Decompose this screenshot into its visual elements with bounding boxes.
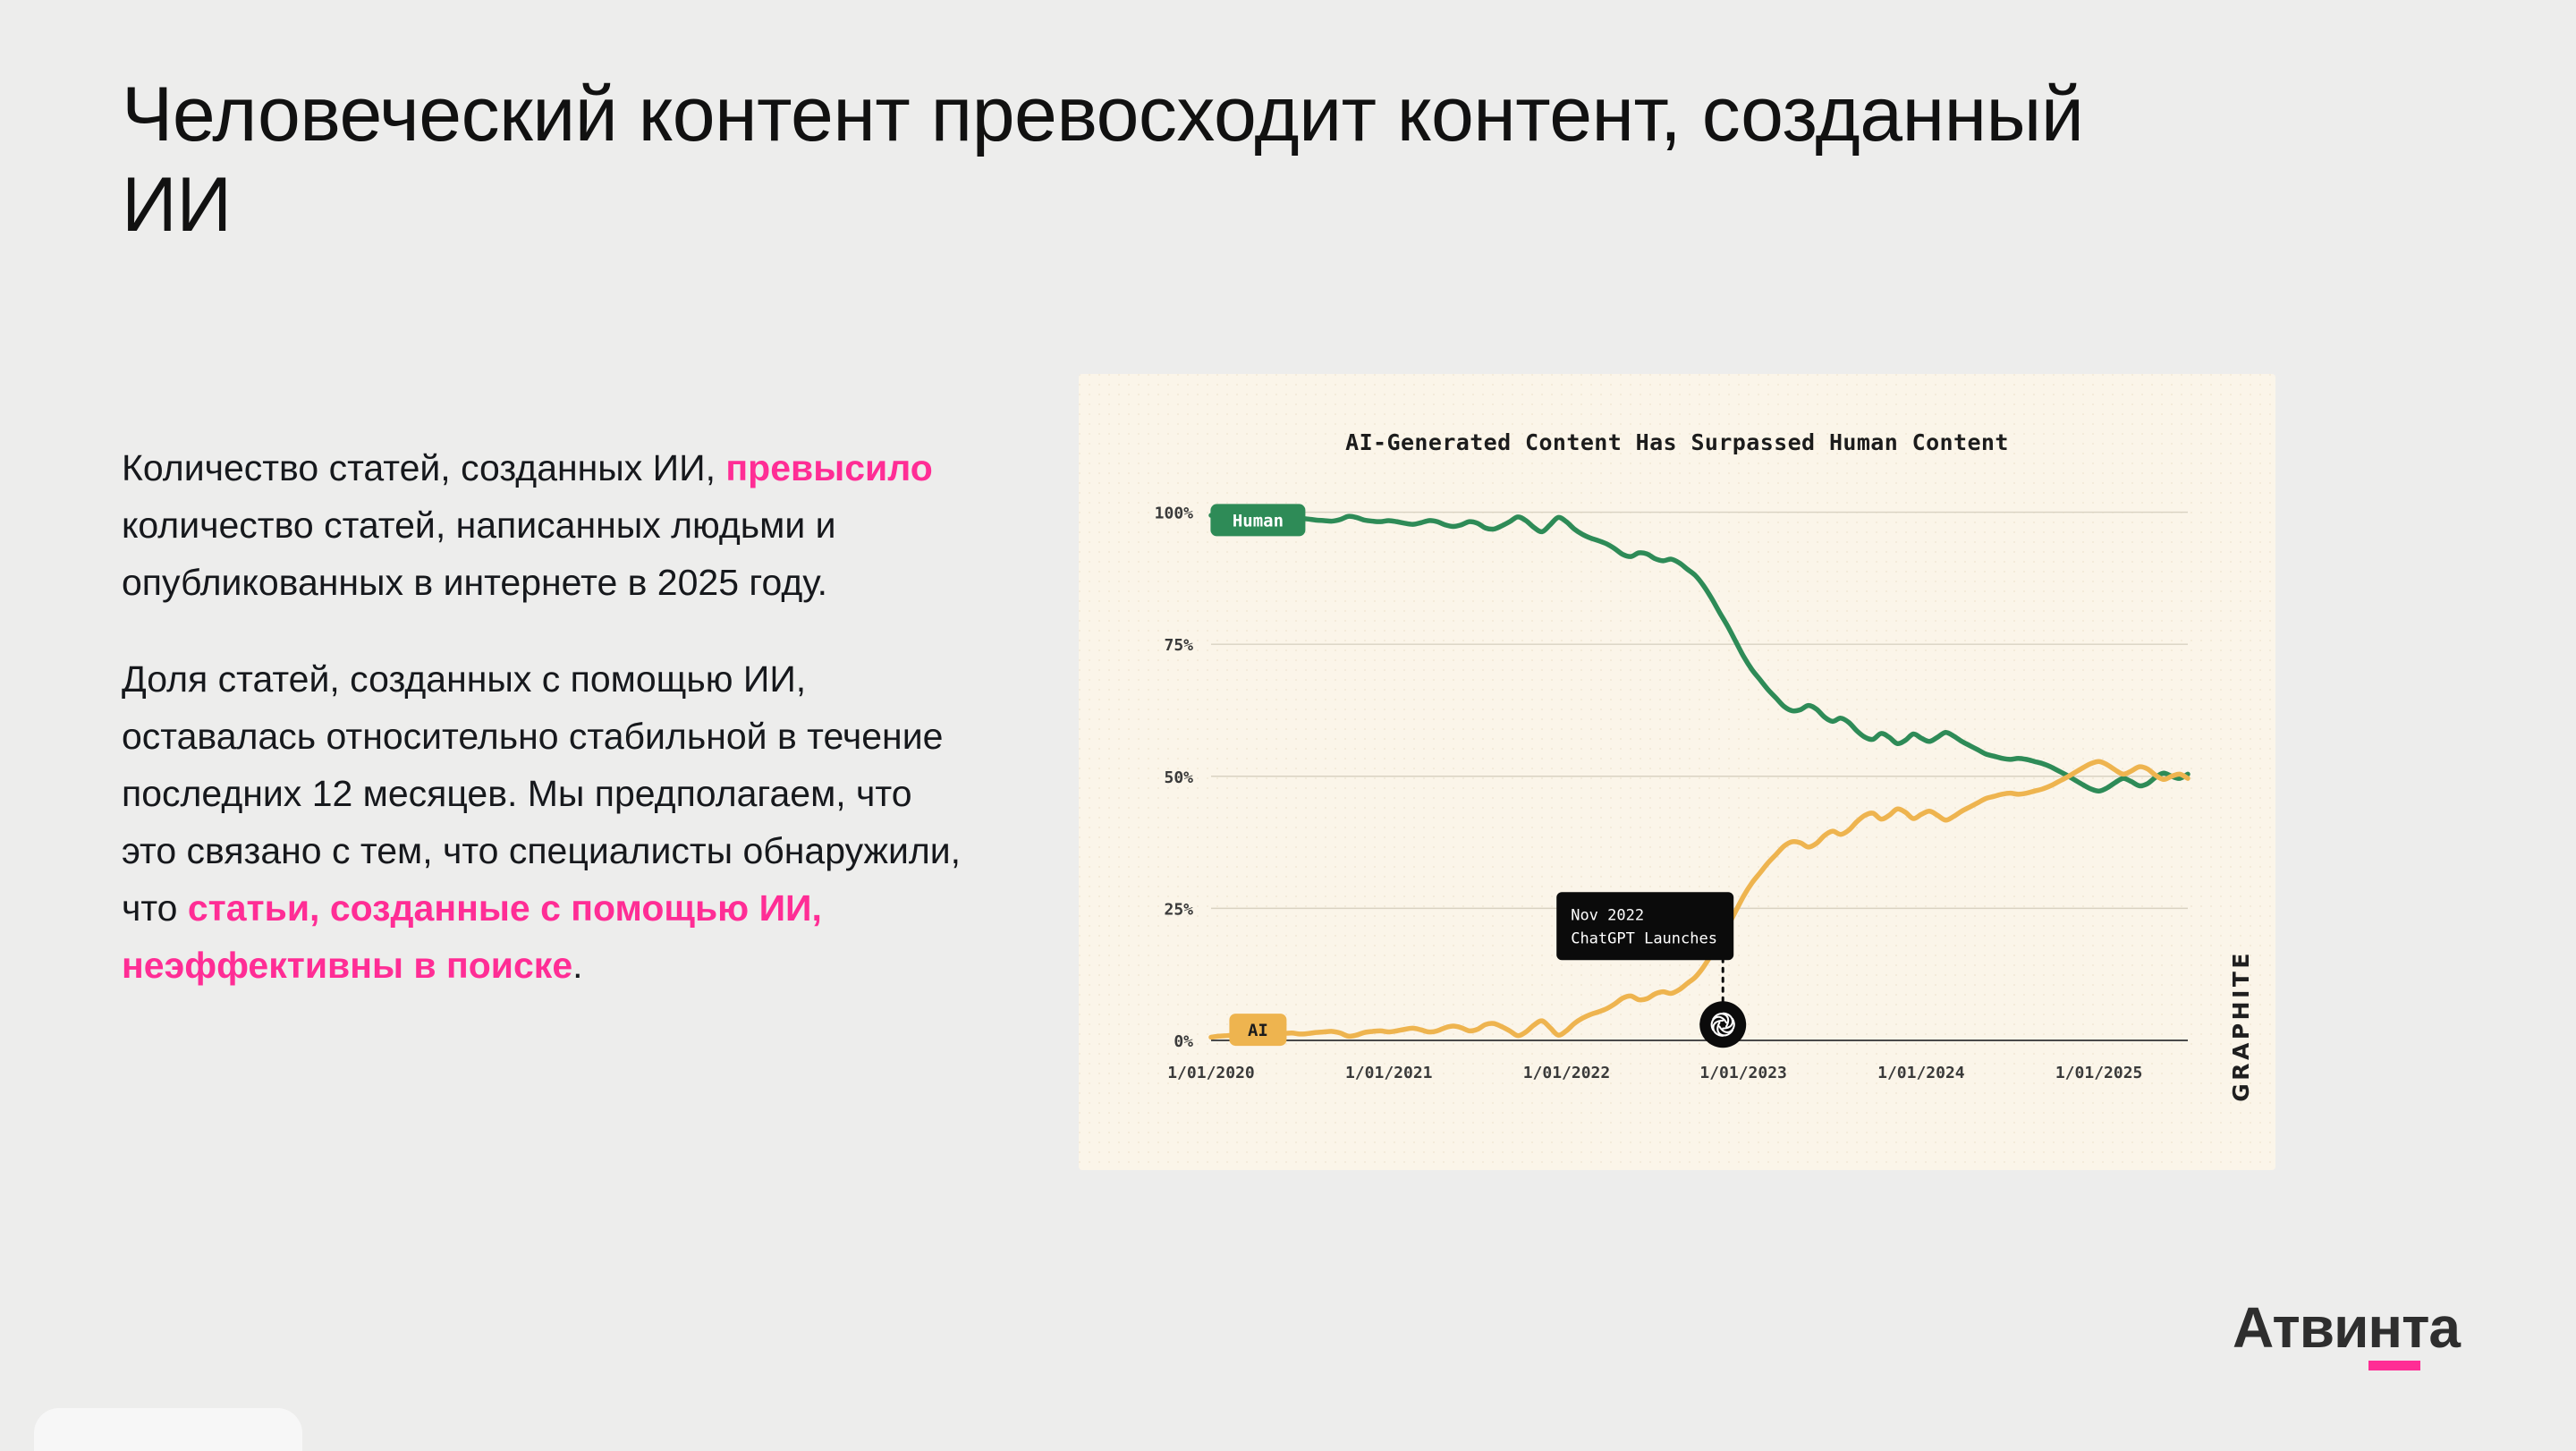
openai-logo-icon — [1699, 1001, 1746, 1048]
legend-chip-human: Human — [1210, 504, 1305, 536]
page-title: Человеческий контент превосходит контент… — [122, 70, 2179, 250]
svg-text:AI: AI — [1248, 1021, 1268, 1040]
series-line-human — [1211, 515, 2188, 791]
paragraph-2-highlight: статьи, созданные с помощью ИИ, неэффект… — [122, 887, 822, 986]
chart-title: AI-Generated Content Has Surpassed Human… — [1079, 429, 2275, 455]
paragraph-2: Доля статей, созданных с помощью ИИ, ост… — [122, 651, 971, 995]
chart-card: AI-Generated Content Has Surpassed Human… — [1079, 374, 2275, 1170]
bottom-left-peek-element — [34, 1408, 302, 1451]
x-axis-tick-label: 1/01/2025 — [2055, 1064, 2143, 1082]
brand-name: Атвинта — [2233, 1299, 2460, 1356]
svg-text:Human: Human — [1233, 511, 1284, 530]
x-axis-tick-label: 1/01/2020 — [1167, 1064, 1255, 1082]
line-chart: 0%25%50%75%100%1/01/20201/01/20211/01/20… — [1079, 374, 2275, 1170]
brand-logo: Атвинта — [2233, 1299, 2460, 1356]
x-axis-tick-label: 1/01/2023 — [1699, 1064, 1787, 1082]
paragraph-2-part-2: . — [572, 945, 582, 986]
y-axis-tick-label: 75% — [1164, 636, 1193, 655]
svg-text:Nov 2022: Nov 2022 — [1571, 906, 1644, 924]
x-axis-tick-label: 1/01/2022 — [1523, 1064, 1611, 1082]
brand-underline — [2368, 1361, 2420, 1370]
y-axis-tick-label: 25% — [1164, 900, 1193, 919]
y-axis-tick-label: 0% — [1174, 1032, 1193, 1051]
graphite-watermark: GRAPHITE — [2228, 950, 2254, 1102]
annotation-label: Nov 2022ChatGPT Launches — [1556, 892, 1733, 960]
x-axis-tick-label: 1/01/2024 — [1877, 1064, 1965, 1082]
legend-chip-ai: AI — [1229, 1014, 1286, 1046]
body-copy: Количество статей, созданных ИИ, превыси… — [122, 440, 971, 995]
y-axis-tick-label: 100% — [1155, 505, 1194, 523]
y-axis-tick-label: 50% — [1164, 768, 1193, 787]
svg-text:ChatGPT Launches: ChatGPT Launches — [1571, 929, 1717, 947]
x-axis-tick-label: 1/01/2021 — [1345, 1064, 1433, 1082]
paragraph-1-highlight: превысило — [725, 447, 932, 488]
paragraph-1-part-1: Количество статей, созданных ИИ, — [122, 447, 725, 488]
paragraph-1-part-2: количество статей, написанных людьми и о… — [122, 505, 836, 603]
slide: Человеческий контент превосходит контент… — [0, 0, 2576, 1451]
paragraph-1: Количество статей, созданных ИИ, превыси… — [122, 440, 971, 612]
